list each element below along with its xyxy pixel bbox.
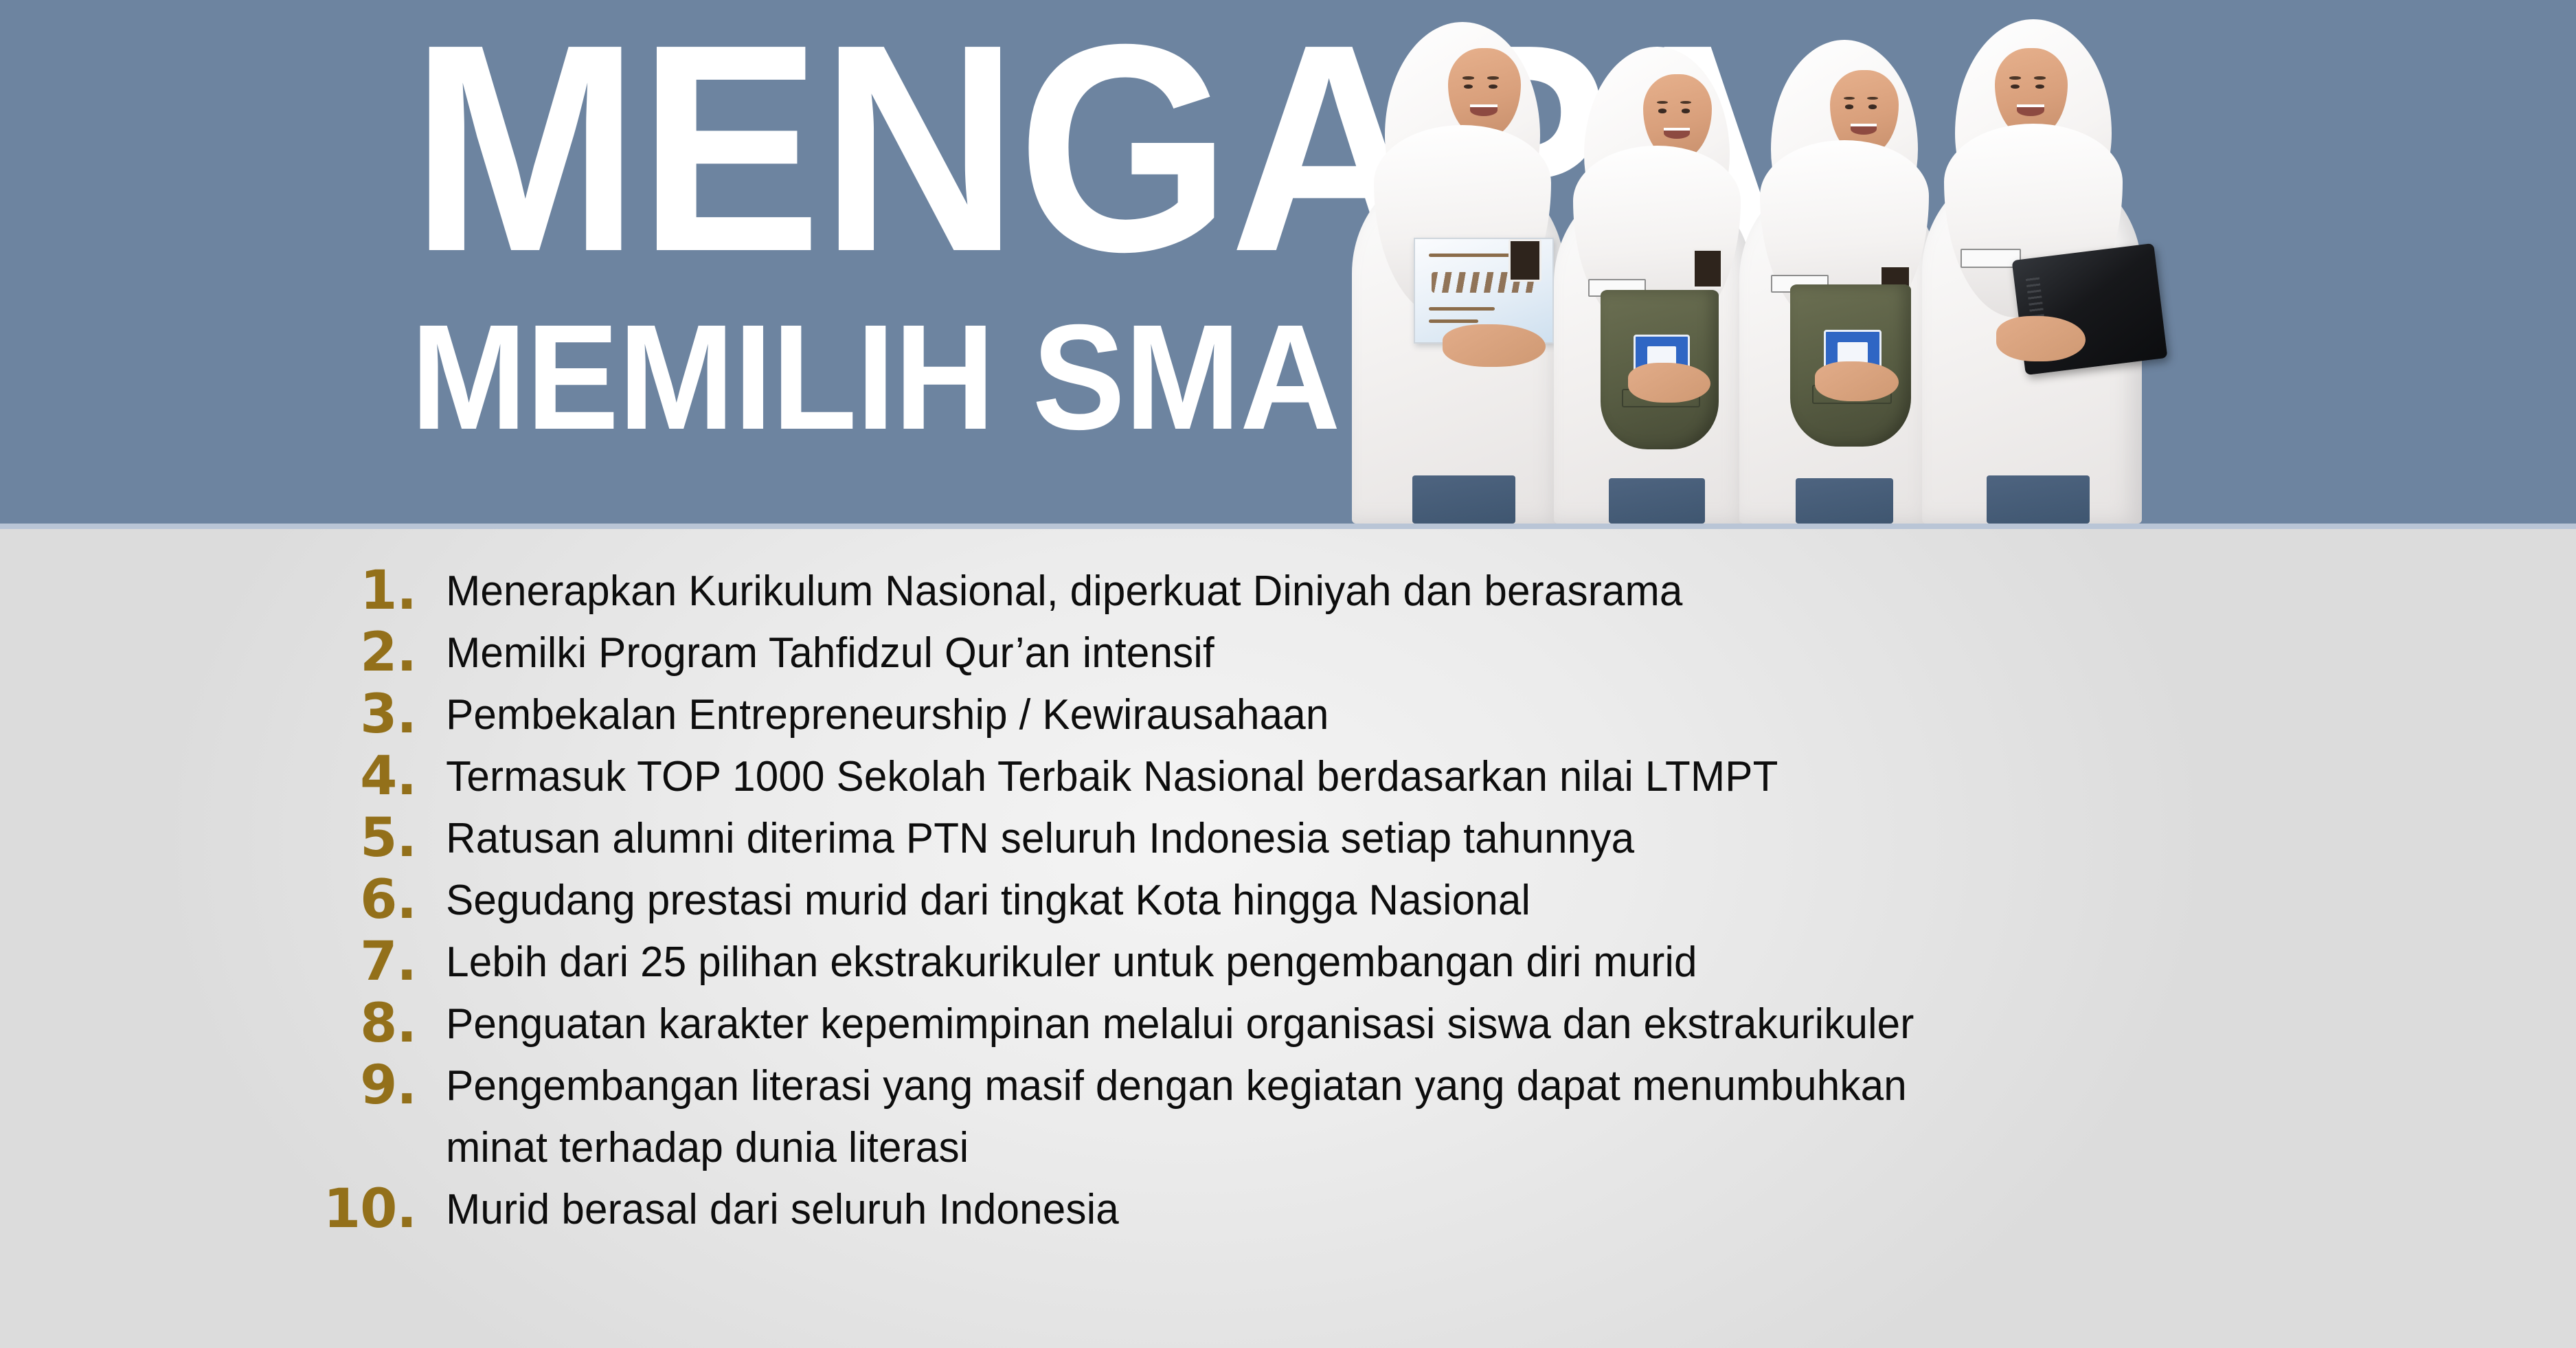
list-item-text: Menerapkan Kurikulum Nasional, diperkuat…: [426, 561, 2511, 622]
list-item-number: 6.: [0, 870, 426, 930]
student-1-badge: [1509, 239, 1541, 282]
banner-divider: [0, 524, 2576, 529]
student-4-skirt: [1987, 475, 2090, 524]
list-item-text: Memilki Program Tahfidzul Qur’an intensi…: [426, 622, 2511, 684]
page-subtitle: MEMILIH SMA MTA?: [411, 313, 1280, 442]
student-1-skirt: [1412, 475, 1515, 524]
list-item-number: 1.: [0, 561, 426, 621]
list-item-text: Segudang prestasi murid dari tingkat Kot…: [426, 870, 2511, 932]
list-item-text: Ratusan alumni diterima PTN seluruh Indo…: [426, 808, 2511, 870]
benefits-list: 1. Menerapkan Kurikulum Nasional, diperk…: [0, 561, 2576, 1241]
list-item-number: 2.: [0, 622, 426, 683]
students-group-photo: [1340, 0, 2164, 524]
student-3-arm: [1815, 361, 1899, 401]
list-item: 3. Pembekalan Entrepreneurship / Kewirau…: [0, 684, 2576, 746]
list-item-number: 4.: [0, 746, 426, 807]
list-item: 7. Lebih dari 25 pilihan ekstrakurikuler…: [0, 932, 2576, 993]
list-item: 5. Ratusan alumni diterima PTN seluruh I…: [0, 808, 2576, 870]
list-item-number: 10.: [0, 1179, 426, 1239]
list-item-text: Lebih dari 25 pilihan ekstrakurikuler un…: [426, 932, 2511, 993]
poster-root: MENGAPA MEMILIH SMA MTA?: [0, 0, 2576, 1348]
title-block: MENGAPA MEMILIH SMA MTA?: [411, 30, 1345, 442]
list-item: 8. Penguatan karakter kepemimpinan melal…: [0, 993, 2576, 1055]
list-item: 4. Termasuk TOP 1000 Sekolah Terbaik Nas…: [0, 746, 2576, 808]
student-4: [1915, 15, 2149, 524]
list-item: 2. Memilki Program Tahfidzul Qur’an inte…: [0, 622, 2576, 684]
list-item-number: 8.: [0, 993, 426, 1054]
list-item: 1. Menerapkan Kurikulum Nasional, diperk…: [0, 561, 2576, 622]
student-1-arm: [1443, 324, 1546, 367]
student-3-skirt: [1796, 478, 1893, 524]
list-item-number: 9.: [0, 1055, 426, 1116]
student-3: [1732, 36, 1945, 524]
header-banner: MENGAPA MEMILIH SMA MTA?: [0, 0, 2576, 524]
student-2-badge: [1693, 249, 1723, 289]
list-item-number: 7.: [0, 932, 426, 992]
student-2: [1547, 43, 1760, 524]
list-item: 10. Murid berasal dari seluruh Indonesia: [0, 1179, 2576, 1241]
content-sheet: 1. Menerapkan Kurikulum Nasional, diperk…: [0, 529, 2576, 1348]
list-item: 9. Pengembangan literasi yang masif deng…: [0, 1055, 2576, 1179]
list-item-text: Penguatan karakter kepemimpinan melalui …: [426, 993, 2511, 1055]
student-2-skirt: [1609, 478, 1705, 524]
list-item-text: Pengembangan literasi yang masif dengan …: [426, 1055, 2511, 1179]
list-item-text: Termasuk TOP 1000 Sekolah Terbaik Nasion…: [426, 746, 2511, 808]
page-title: MENGAPA: [411, 30, 1280, 267]
list-item: 6. Segudang prestasi murid dari tingkat …: [0, 870, 2576, 932]
list-item-text: Murid berasal dari seluruh Indonesia: [426, 1179, 2511, 1241]
student-4-arm: [1996, 316, 2086, 361]
list-item-number: 3.: [0, 684, 426, 745]
student-1: [1346, 15, 1573, 524]
list-item-text: Pembekalan Entrepreneurship / Kewirausah…: [426, 684, 2511, 746]
list-item-number: 5.: [0, 808, 426, 868]
student-2-arm: [1628, 363, 1710, 403]
